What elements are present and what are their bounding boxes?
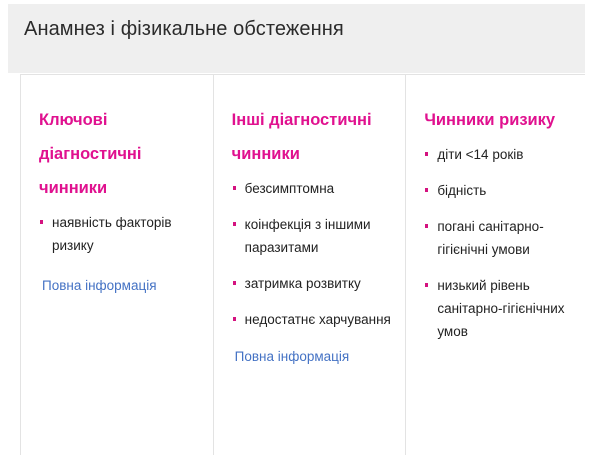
list-item-label: коінфекція з іншими паразитами [245,217,371,255]
list-item: затримка розвитку [232,272,392,295]
list-item-label: діти <14 років [437,147,523,162]
bullet-list: безсимптомна коінфекція з іншими паразит… [232,177,392,331]
list-item-label: низький рівень санітарно-гігієнічних умо… [437,278,564,339]
list-item-label: погані санітарно-гігієнічні умови [437,219,543,257]
list-item-label: недостатнє харчування [245,312,391,327]
full-information-link[interactable]: Повна інформація [235,345,350,368]
list-item: наявність факторів ризику [39,211,199,257]
list-item: коінфекція з іншими паразитами [232,213,392,259]
page-root: Анамнез і фізикальне обстеження Ключові … [0,0,600,455]
diagnostic-factors-table: Ключові діагностичні чинники наявність ф… [20,74,585,455]
list-item: бідність [424,179,571,202]
bullet-list: наявність факторів ризику [39,211,199,257]
section-header: Анамнез і фізикальне обстеження [8,4,585,73]
column-heading: Ключові діагностичні чинники [39,103,199,205]
full-information-link[interactable]: Повна інформація [42,274,157,297]
list-item-label: безсимптомна [245,181,335,196]
list-item: низький рівень санітарно-гігієнічних умо… [424,274,571,343]
bullet-list: діти <14 років бідність погані санітарно… [424,143,571,343]
list-item-label: наявність факторів ризику [52,215,172,253]
column-heading: Чинники ризику [424,103,571,137]
column-risk-factors: Чинники ризику діти <14 років бідність п… [406,75,585,455]
list-item: погані санітарно-гігієнічні умови [424,215,571,261]
page-title: Анамнез і фізикальне обстеження [24,16,344,42]
list-item-label: затримка розвитку [245,276,361,291]
column-other-diagnostic-factors: Інші діагностичні чинники безсимптомна к… [214,75,407,455]
list-item: недостатнє харчування [232,308,392,331]
list-item: безсимптомна [232,177,392,200]
list-item-label: бідність [437,183,486,198]
list-item: діти <14 років [424,143,571,166]
column-heading: Інші діагностичні чинники [232,103,392,171]
column-key-diagnostic-factors: Ключові діагностичні чинники наявність ф… [21,75,214,455]
